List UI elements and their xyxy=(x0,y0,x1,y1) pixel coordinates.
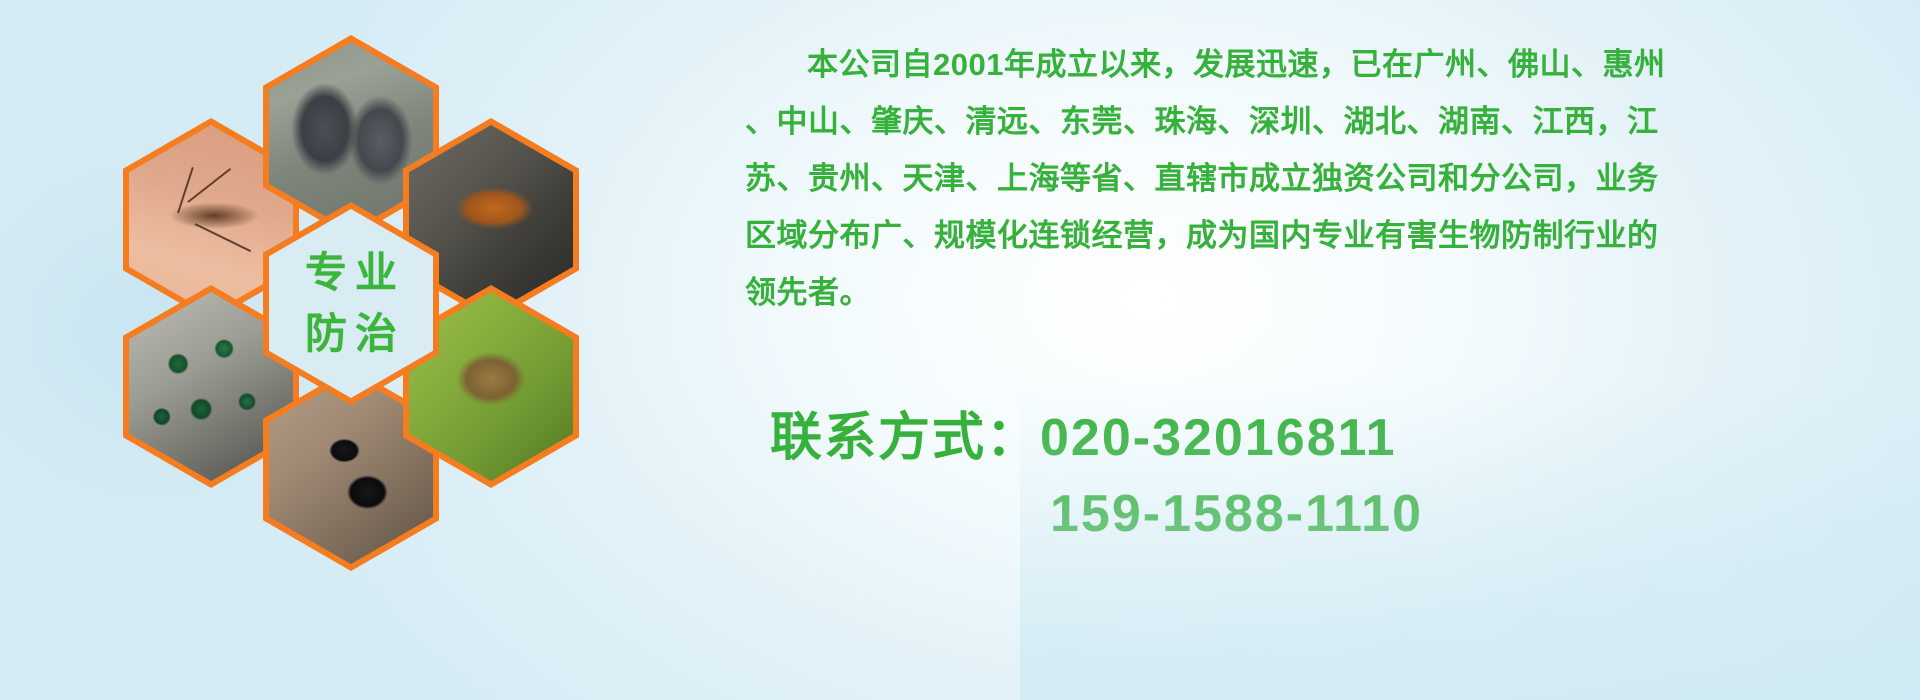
description-line-1: 本公司自2001年成立以来，发展迅速，已在广州、佛山、惠州 xyxy=(745,36,1895,93)
contact-block: 联系方式：020-32016811 159-1588-1110 xyxy=(770,400,1423,552)
mosquito-leg-icon xyxy=(194,223,251,252)
phone-number-primary[interactable]: 020-32016811 xyxy=(1040,409,1397,467)
honeycomb-cluster: 专业 防治 xyxy=(85,10,585,555)
description-line-3: 苏、贵州、天津、上海等省、直辖市成立独资公司和分公司，业务 xyxy=(745,150,1895,207)
phone-number-secondary[interactable]: 159-1588-1110 xyxy=(770,476,1423,552)
contact-label: 联系方式： xyxy=(770,409,1040,467)
slogan-line-2: 防治 xyxy=(297,304,405,365)
description-line-2: 、中山、肇庆、清远、东莞、珠海、深圳、湖北、湖南、江西，江 xyxy=(745,93,1895,150)
mosquito-leg-icon xyxy=(177,167,194,213)
description-line-4: 区域分布广、规模化连锁经营，成为国内专业有害生物防制行业的 xyxy=(745,207,1895,264)
company-description: 本公司自2001年成立以来，发展迅速，已在广州、佛山、惠州 、中山、肇庆、清远、… xyxy=(745,36,1895,321)
slogan-line-1: 专业 xyxy=(297,243,405,304)
description-line-5: 领先者。 xyxy=(745,264,1895,321)
contact-primary-line: 联系方式：020-32016811 xyxy=(770,400,1423,476)
hex-inner-slogan: 专业 防治 xyxy=(269,209,433,398)
promo-banner: 专业 防治 本公司自2001年成立以来，发展迅速，已在广州、佛山、惠州 、中山、… xyxy=(0,0,1920,700)
mosquito-leg-icon xyxy=(187,168,231,203)
